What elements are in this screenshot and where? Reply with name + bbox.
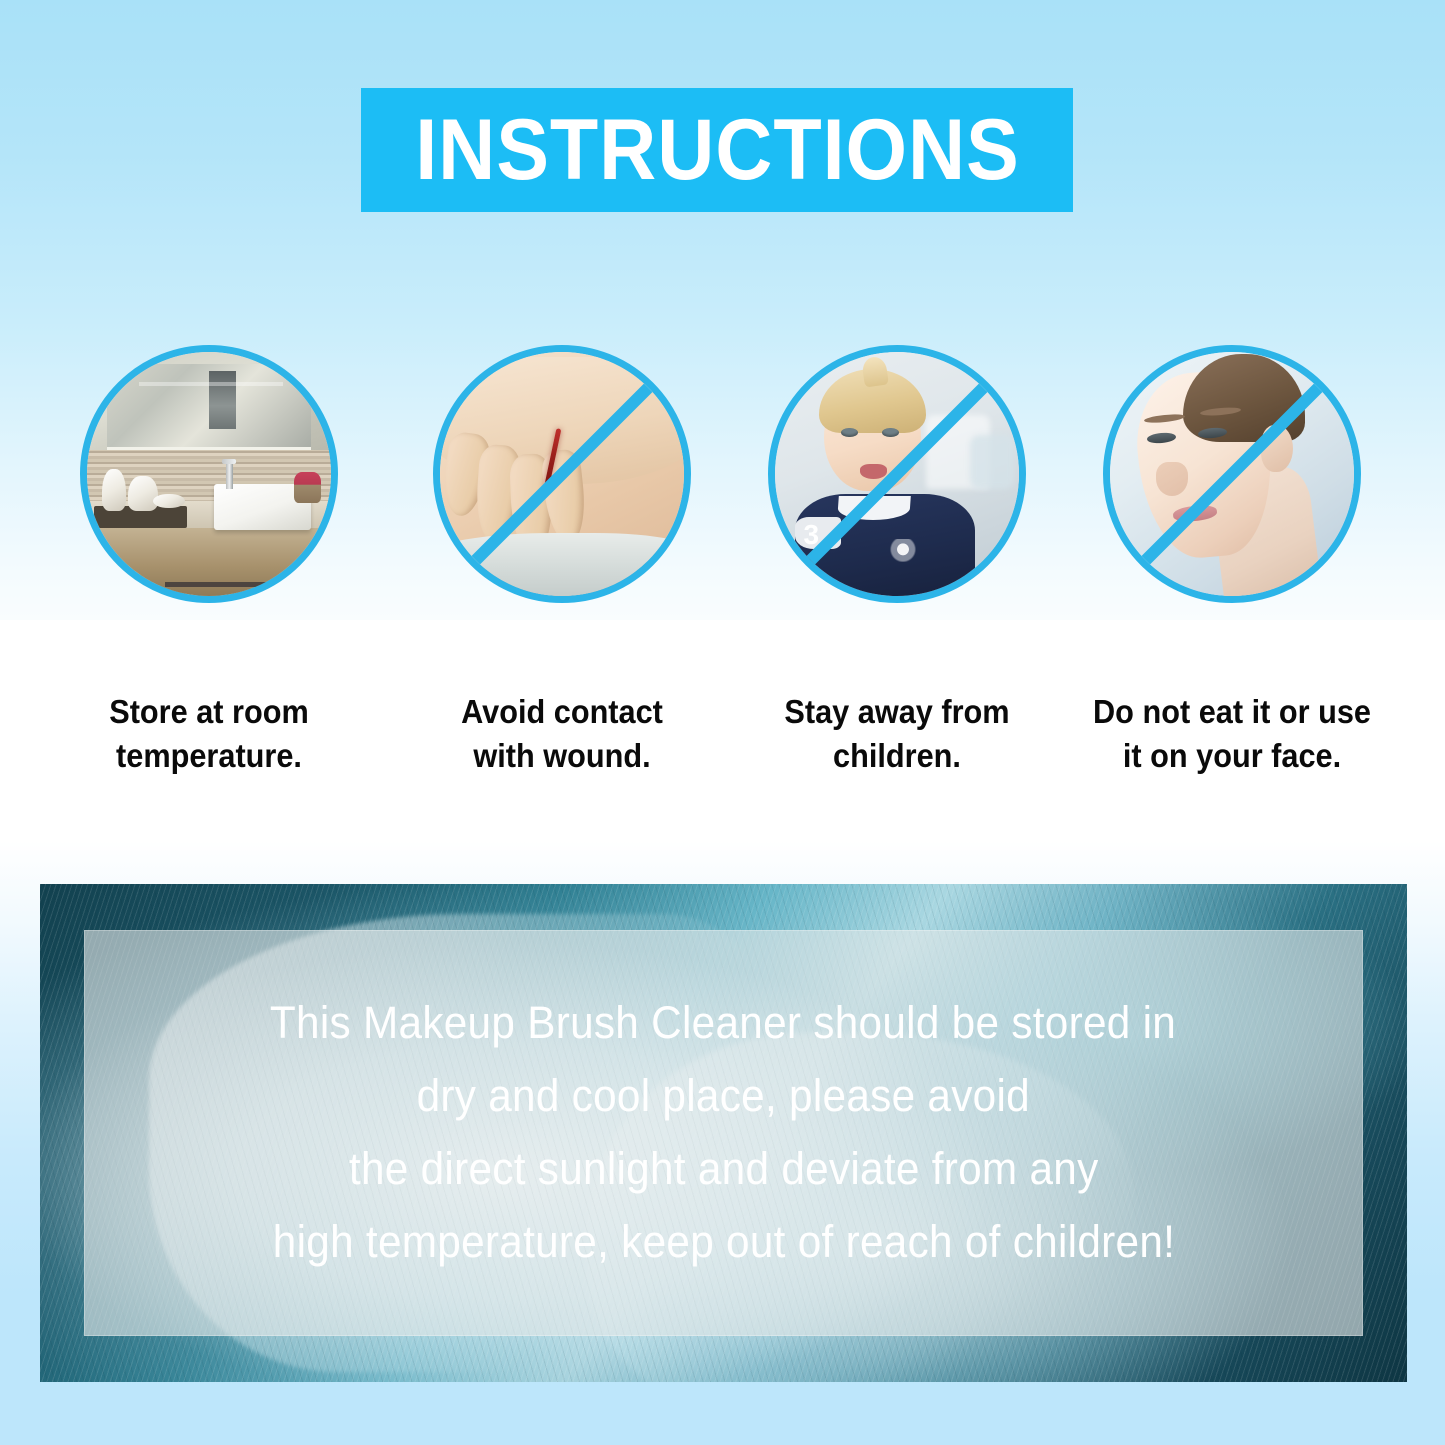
instruction-icon-row: 3 bbox=[0, 345, 1445, 615]
instruction-item-stay-away-from-children: 3 bbox=[768, 345, 1026, 603]
instruction-item-do-not-eat-or-use-on-face bbox=[1103, 345, 1361, 603]
bathroom-cabinet bbox=[87, 528, 331, 596]
bathroom-flower-pot bbox=[294, 472, 321, 504]
caption-stay-away-from-children: Stay away from children. bbox=[739, 690, 1055, 778]
bathroom-vanity-photo bbox=[87, 352, 331, 596]
storage-text-line: dry and cool place, please avoid bbox=[417, 1060, 1030, 1133]
caption-line: Do not eat it or use bbox=[1074, 690, 1390, 734]
woman-face-icon bbox=[1103, 345, 1361, 603]
background-blur-shape bbox=[970, 435, 1014, 489]
storage-text-line: This Makeup Brush Cleaner should be stor… bbox=[270, 987, 1176, 1060]
caption-line: Avoid contact bbox=[404, 690, 720, 734]
instruction-item-store-at-room-temperature bbox=[80, 345, 338, 603]
caption-line: children. bbox=[739, 734, 1055, 778]
caption-line: Stay away from bbox=[739, 690, 1055, 734]
mirror-reflection-dark bbox=[209, 371, 236, 429]
hands-with-wound-icon bbox=[433, 345, 691, 603]
towel-fold bbox=[594, 588, 684, 596]
woman-nose bbox=[1156, 462, 1188, 496]
caption-avoid-contact-with-wound: Avoid contact with wound. bbox=[404, 690, 720, 778]
bathroom-dish bbox=[153, 494, 185, 509]
mirror-streak bbox=[139, 382, 282, 385]
bathroom-faucet bbox=[226, 459, 233, 488]
instructions-graphic: INSTRUCTIONS bbox=[0, 0, 1445, 1445]
caption-line: temperature. bbox=[51, 734, 367, 778]
caption-store-at-room-temperature: Store at room temperature. bbox=[51, 690, 367, 778]
storage-text-line: the direct sunlight and deviate from any bbox=[349, 1133, 1099, 1206]
bathroom-vanity-icon bbox=[80, 345, 338, 603]
toddler-child-icon: 3 bbox=[768, 345, 1026, 603]
bathroom-mirror bbox=[107, 364, 312, 450]
caption-line: Store at room bbox=[51, 690, 367, 734]
instruction-item-avoid-contact-with-wound bbox=[433, 345, 691, 603]
page-title: INSTRUCTIONS bbox=[415, 107, 1019, 193]
child-mouth bbox=[860, 464, 887, 479]
storage-text-line: high temperature, keep out of reach of c… bbox=[272, 1206, 1174, 1279]
title-banner: INSTRUCTIONS bbox=[361, 88, 1073, 212]
cabinet-trim bbox=[165, 582, 331, 587]
storage-instructions-panel: This Makeup Brush Cleaner should be stor… bbox=[40, 884, 1407, 1382]
bathroom-jar bbox=[128, 476, 157, 510]
cabinet-knob bbox=[136, 589, 158, 595]
bathroom-jar bbox=[102, 469, 126, 510]
caption-line: it on your face. bbox=[1074, 734, 1390, 778]
caption-line: with wound. bbox=[404, 734, 720, 778]
storage-text-overlay: This Makeup Brush Cleaner should be stor… bbox=[84, 930, 1363, 1336]
shirt-logo bbox=[885, 539, 921, 563]
caption-do-not-eat-or-use-on-face: Do not eat it or use it on your face. bbox=[1074, 690, 1390, 778]
